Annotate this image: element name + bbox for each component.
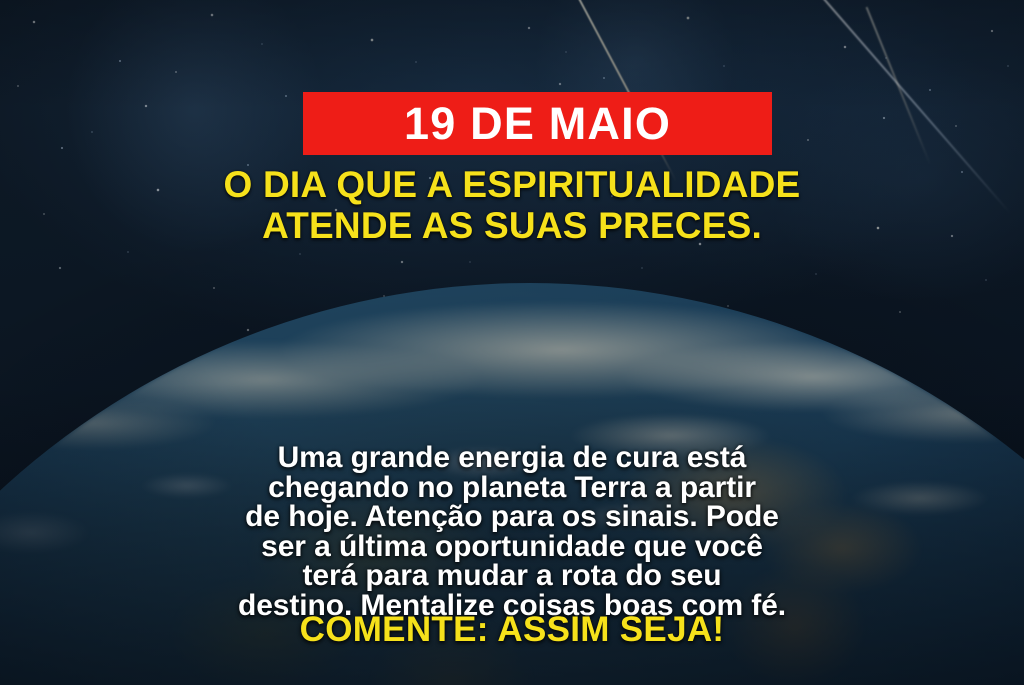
body-line-4: ser a última oportunidade que você [52, 532, 972, 562]
body-line-1: Uma grande energia de cura está [52, 443, 972, 473]
body-paragraph: Uma grande energia de cura está chegando… [52, 443, 972, 620]
poster-canvas: 19 DE MAIO O DIA QUE A ESPIRITUALIDADE A… [0, 0, 1024, 685]
body-line-5: terá para mudar a rota do seu [52, 561, 972, 591]
poster-content: 19 DE MAIO O DIA QUE A ESPIRITUALIDADE A… [0, 0, 1024, 685]
date-banner-label: 19 DE MAIO [404, 101, 671, 146]
headline-line-2: ATENDE AS SUAS PRECES. [0, 206, 1024, 247]
call-to-action: COMENTE: ASSIM SEJA! [0, 612, 1024, 647]
headline: O DIA QUE A ESPIRITUALIDADE ATENDE AS SU… [0, 165, 1024, 246]
call-to-action-label: COMENTE: ASSIM SEJA! [300, 610, 725, 649]
body-line-3: de hoje. Atenção para os sinais. Pode [52, 502, 972, 532]
body-line-2: chegando no planeta Terra a partir [52, 473, 972, 503]
headline-line-1: O DIA QUE A ESPIRITUALIDADE [0, 165, 1024, 206]
date-banner: 19 DE MAIO [303, 92, 772, 155]
